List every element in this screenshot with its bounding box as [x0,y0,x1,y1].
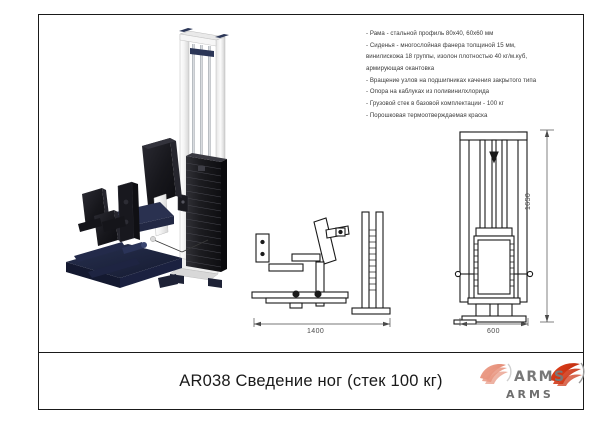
guide-rails [190,44,214,158]
spec-item: армирующая окантовка [366,63,582,75]
spec-item: - Рама - стальной профиль 80х40, 60х60 м… [366,28,582,40]
side-elevation-drawing [252,212,392,327]
spec-item: - Опора на каблуках из поливинилхлорида [366,86,582,98]
spec-item: винилискожа 18 группы, изолон плотностью… [366,51,582,63]
dimension-length-label: 1400 [307,328,324,335]
page-title: AR038 Сведение ног (стек 100 кг) [179,372,442,391]
dimension-width-label: 600 [487,328,500,335]
product-render-isometric [58,26,248,318]
leg-pads [82,188,122,246]
spec-item: - Вращение узлов на подшипниках качения … [366,75,582,87]
arms-logo-mark: ARMS [478,360,586,388]
swoosh-left [480,364,511,384]
dimension-height-label: 1650 [525,193,532,210]
arms-logo: ARMS ARMS [478,358,586,404]
dimension-height-line [536,126,558,326]
arms-logo-wordmark: ARMS [506,388,554,401]
spec-item: - Сиденья - многослойная фанера толщиной… [366,40,582,52]
svg-text:ARMS: ARMS [514,369,566,385]
spec-item: - Грузовой стек в базовой комплектации -… [366,98,582,110]
spec-item: - Порошковая термоотверждаемая краска [366,110,582,122]
front-elevation-drawing [452,128,544,326]
specifications-list: - Рама - стальной профиль 80х40, 60х60 м… [366,28,582,122]
spec-sheet: 1400 [0,0,600,424]
